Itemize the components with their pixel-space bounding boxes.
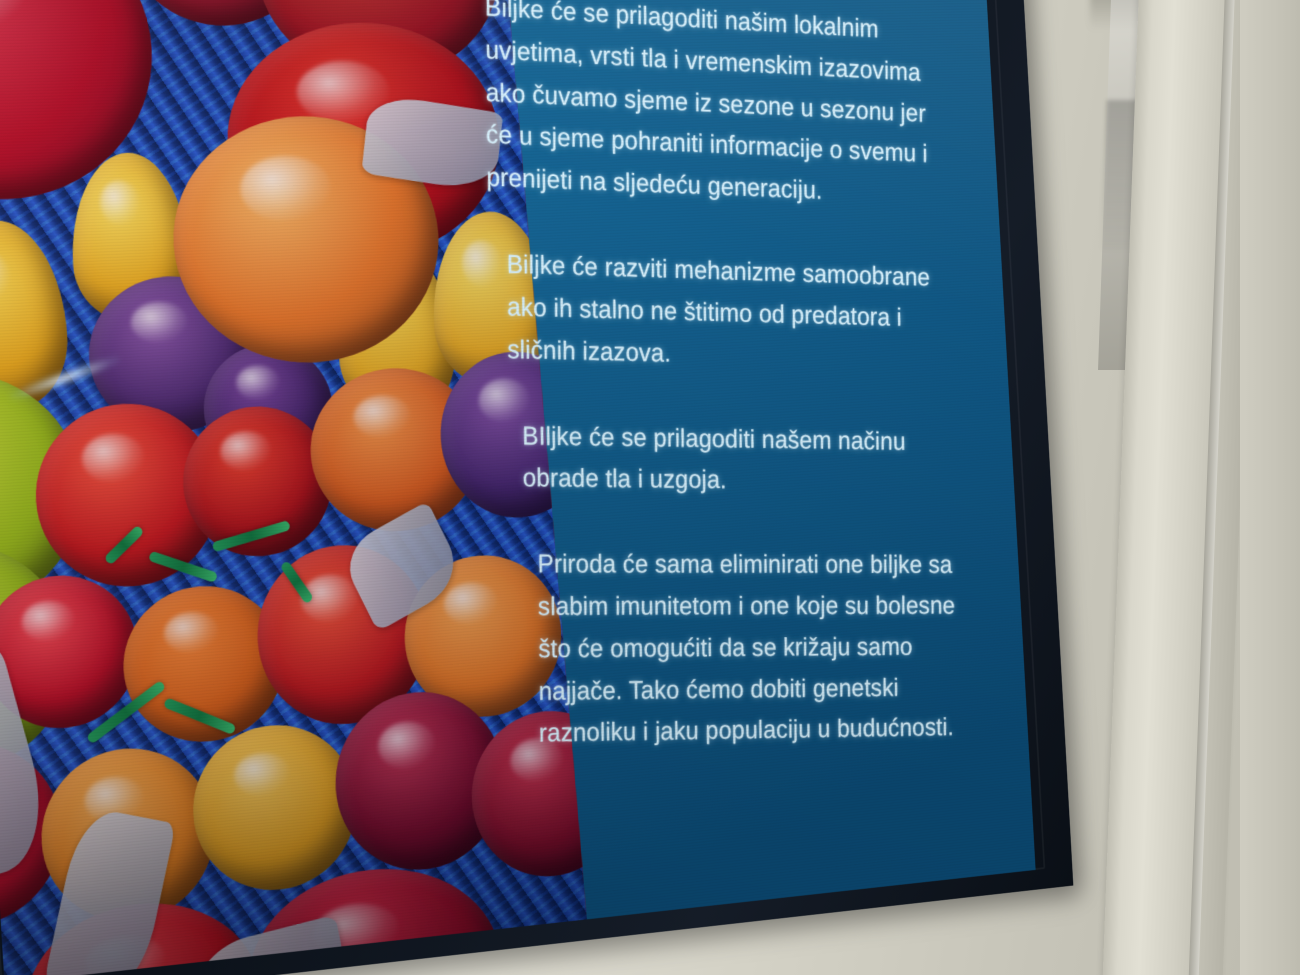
slide-paragraph-2: Biljke će razviti mehanizme samoobrane a… xyxy=(507,243,998,381)
slide-paragraph-3: BIljke će se prilagoditi našem načinu ob… xyxy=(522,415,998,504)
screenshot-stage: Biljke će se prilagoditi našim lokalnim … xyxy=(0,0,1300,975)
slide-text-block: Biljke će se prilagoditi našim lokalnim … xyxy=(485,0,1001,799)
slide-paragraph-1: Biljke će se prilagoditi našim lokalnim … xyxy=(485,0,996,218)
wall-right-section xyxy=(1240,0,1300,975)
tomato-yellow xyxy=(188,718,361,898)
wall-mounted-display[interactable]: Biljke će se prilagoditi našim lokalnim … xyxy=(0,0,1073,975)
slide-paragraph-4: Priroda će sama eliminirati one biljke s… xyxy=(537,543,1000,755)
presentation-slide[interactable]: Biljke će se prilagoditi našim lokalnim … xyxy=(0,0,1036,975)
